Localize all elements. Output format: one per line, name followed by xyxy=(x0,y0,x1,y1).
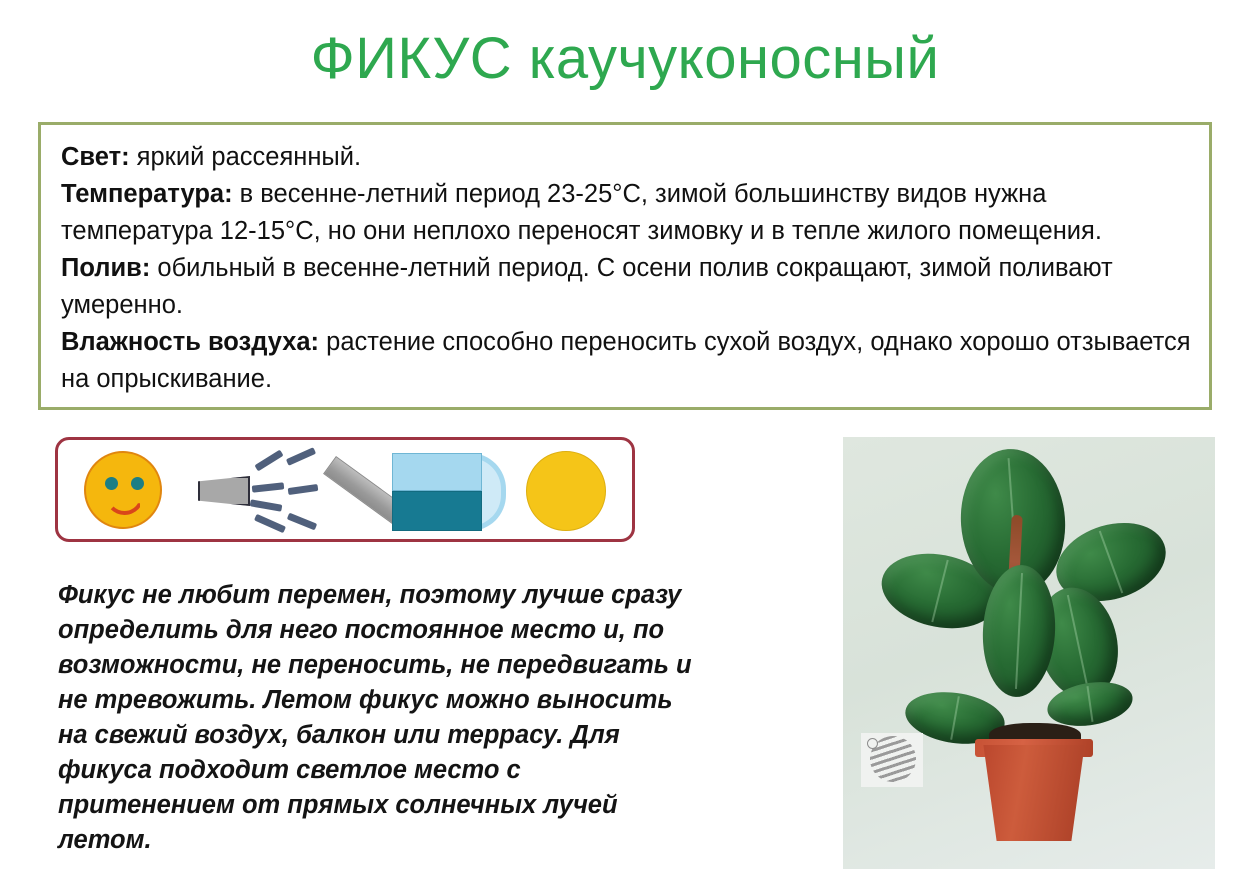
watermark-badge xyxy=(867,738,878,749)
smiley-eye-left xyxy=(105,477,118,490)
spray-line-3 xyxy=(252,482,285,492)
note-line: притенением от прямых солнечных лучей xyxy=(58,788,788,823)
striped-circle-watermark xyxy=(861,733,923,787)
spray-line-6 xyxy=(254,514,286,533)
care-item-watering: Полив: обильный в весенне-летний период.… xyxy=(61,250,1193,324)
spray-mister-icon xyxy=(188,440,328,539)
spray-line-2 xyxy=(286,447,316,466)
care-label-temperature: Температура: xyxy=(61,180,233,208)
sun-circle-icon xyxy=(516,440,626,539)
care-item-humidity: Влажность воздуха: растение способно пер… xyxy=(61,324,1193,398)
spray-line-5 xyxy=(250,499,283,511)
note-line: не тревожить. Летом фикус можно выносить xyxy=(58,683,788,718)
care-label-humidity: Влажность воздуха: xyxy=(61,328,319,356)
care-item-light: Свет: яркий рассеянный. xyxy=(61,139,1193,176)
care-item-temperature: Температура: в весенне-летний период 23-… xyxy=(61,176,1193,250)
smiley-mouth xyxy=(105,493,144,515)
care-label-light: Свет: xyxy=(61,143,130,171)
care-text-light: яркий рассеянный. xyxy=(130,143,361,171)
care-text-watering: обильный в весенне-летний период. С осен… xyxy=(61,254,1113,319)
smiley-face-icon xyxy=(76,440,186,539)
spray-line-7 xyxy=(287,513,317,531)
care-label-watering: Полив: xyxy=(61,254,150,282)
care-info-box: Свет: яркий рассеянный. Температура: в в… xyxy=(38,122,1212,410)
watering-can-icon xyxy=(330,440,520,539)
spray-line-4 xyxy=(288,484,319,495)
watering-can-body-top xyxy=(392,453,482,491)
note-line: Фикус не любит перемен, поэтому лучше ср… xyxy=(58,578,788,613)
spray-line-1 xyxy=(254,450,283,472)
note-line: возможности, не переносить, не передвига… xyxy=(58,648,788,683)
watering-can-body-bottom xyxy=(392,491,482,531)
smiley-eye-right xyxy=(131,477,144,490)
note-line: фикуса подходит светлое место с xyxy=(58,753,788,788)
spray-nozzle xyxy=(198,476,250,506)
care-icon-panel xyxy=(55,437,635,542)
smiley-face-circle xyxy=(84,451,162,529)
note-line: на свежий воздух, балкон или террасу. Дл… xyxy=(58,718,788,753)
plant-note-text: Фикус не любит перемен, поэтому лучше ср… xyxy=(58,578,788,858)
note-line: определить для него постоянное место и, … xyxy=(58,613,788,648)
page-title: ФИКУС каучуконосный xyxy=(0,28,1250,90)
flower-pot xyxy=(979,745,1089,841)
note-line: летом. xyxy=(58,823,788,858)
sun-disc xyxy=(526,451,606,531)
ficus-plant-photo xyxy=(843,437,1215,869)
